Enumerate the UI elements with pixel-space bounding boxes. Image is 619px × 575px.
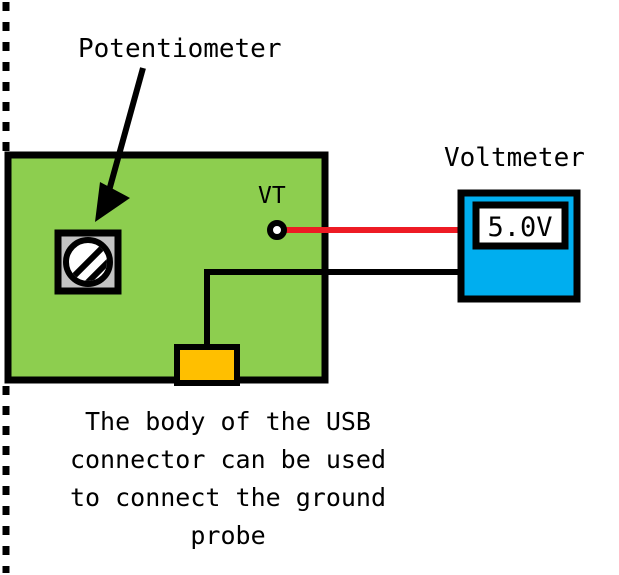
vt-terminal-label: VT [258,183,286,209]
caption-line-4: probe [190,521,265,550]
potentiometer-label: Potentiometer [78,34,282,64]
circuit-diagram: 5.0V Potentiometer Voltmeter VT The body… [0,0,619,575]
voltmeter-label: Voltmeter [444,143,585,173]
diagram-canvas: 5.0V Potentiometer Voltmeter VT The body… [0,0,619,575]
caption-line-3: to connect the ground [70,483,386,512]
usb-connector [177,347,237,383]
voltmeter-reading: 5.0V [487,212,552,243]
caption-line-1: The body of the USB [85,407,371,436]
vt-terminal-pad[interactable] [270,223,284,237]
caption-line-2: connector can be used [70,445,386,474]
